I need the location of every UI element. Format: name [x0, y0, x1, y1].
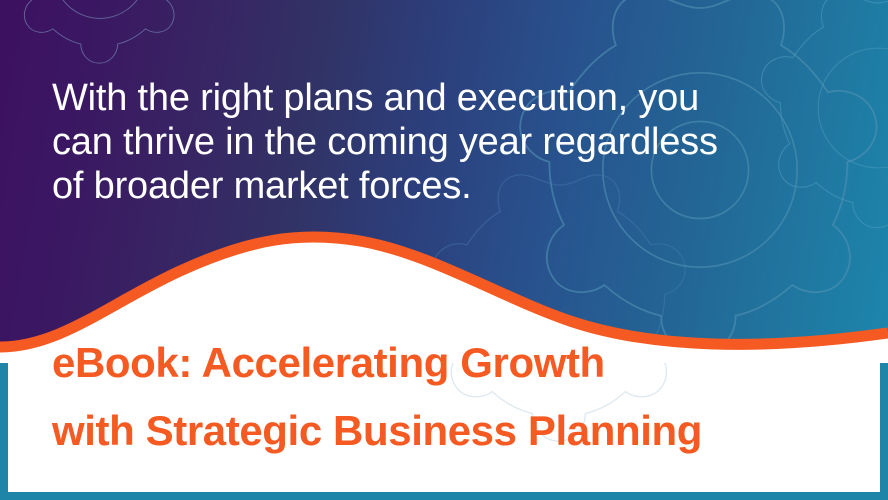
lede-paragraph: With the right plans and execution, you …	[52, 76, 842, 208]
page-title: eBook: Accelerating Growth with Strategi…	[52, 329, 852, 465]
ebook-cover-slide: With the right plans and execution, you …	[0, 0, 888, 500]
